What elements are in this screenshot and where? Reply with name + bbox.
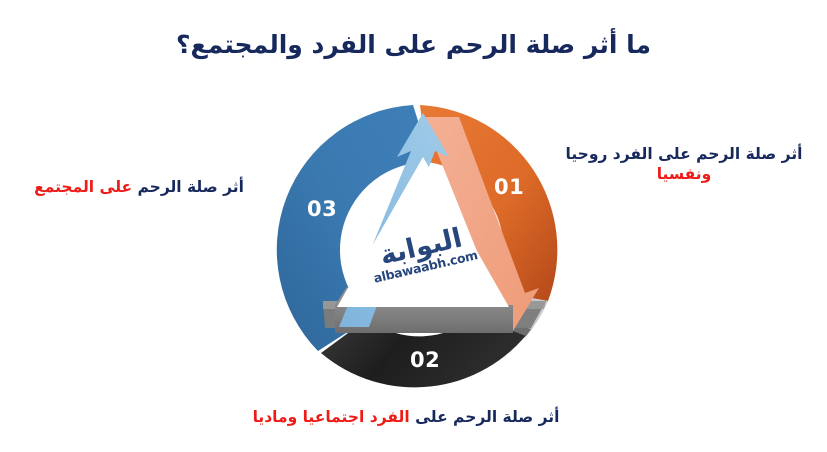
callout-label-02-red: الفرد اجتماعيا وماديا [253, 408, 410, 426]
callout-label-01-red: ونفسيا [657, 165, 712, 183]
callout-label-03-red: على المجتمع [34, 178, 132, 196]
page-title: ما أثر صلة الرحم على الفرد والمجتمع؟ [0, 30, 827, 59]
callout-label-02: أثر صلة الرحم على الفرد اجتماعيا وماديا [238, 408, 574, 428]
segment-number-03: 03 [307, 197, 337, 221]
segment-number-02: 02 [410, 348, 440, 372]
callout-label-03: أثر صلة الرحم على المجتمع [8, 178, 270, 198]
callout-label-03-navy: أثر صلة الرحم [138, 178, 244, 196]
callout-label-01-navy: أثر صلة الرحم على الفرد روحيا [566, 145, 803, 163]
infographic-canvas: ما أثر صلة الرحم على الفرد والمجتمع؟ [0, 0, 827, 452]
callout-label-02-navy: أثر صلة الرحم على [415, 408, 559, 426]
callout-label-01: أثر صلة الرحم على الفرد روحيا ونفسيا [548, 145, 820, 185]
segment-number-01: 01 [494, 175, 524, 199]
